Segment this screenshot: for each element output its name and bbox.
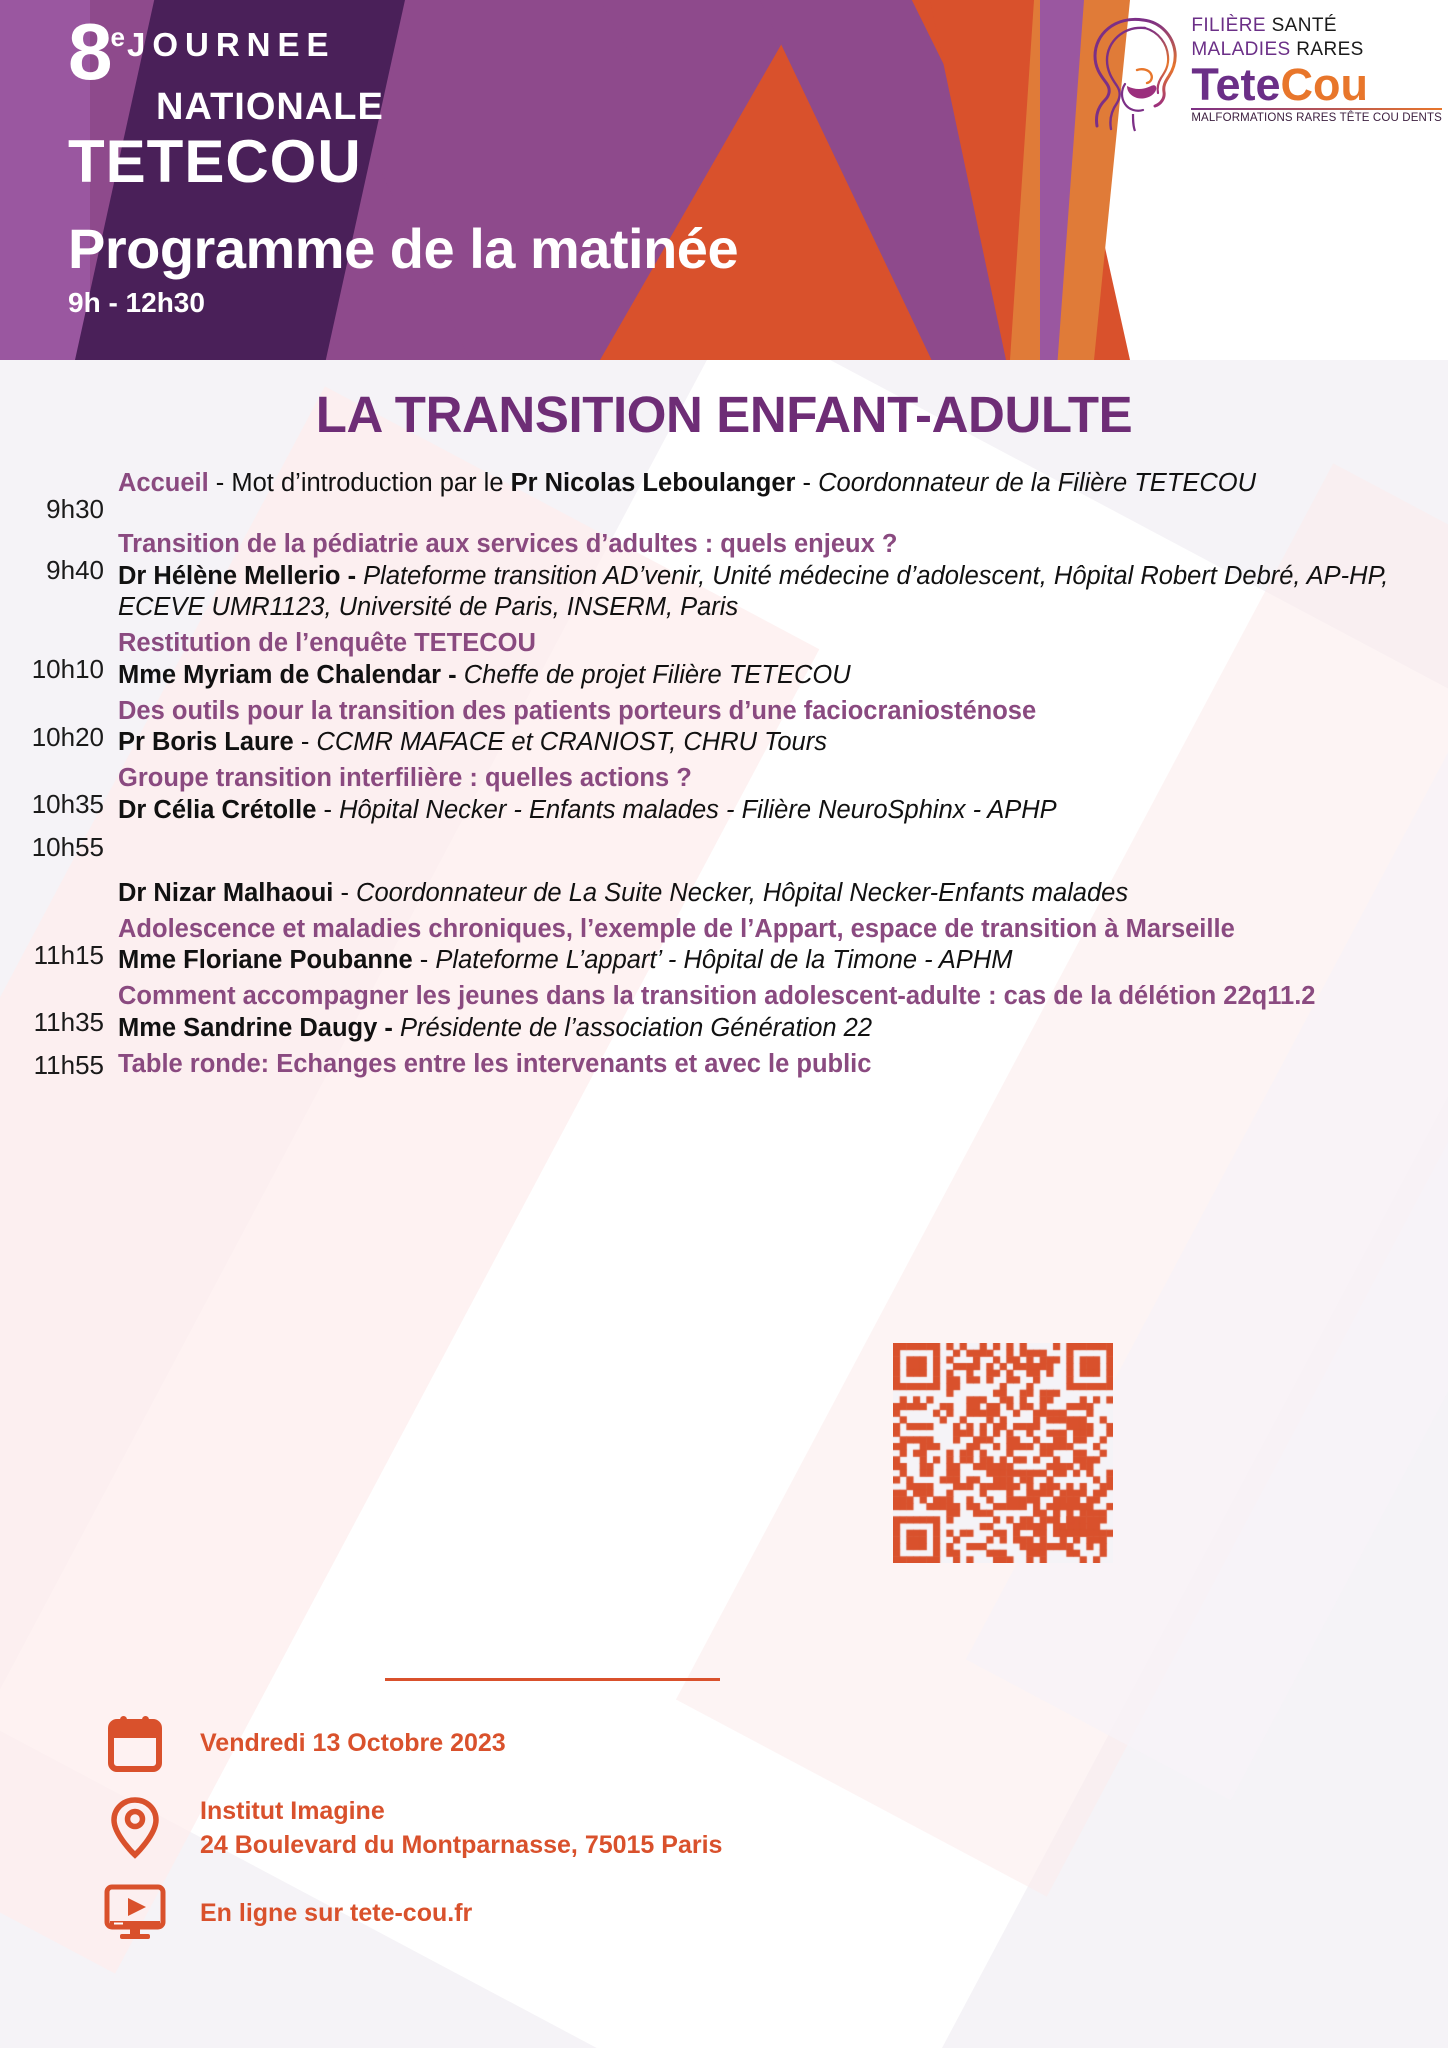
schedule-row: 10h10Restitution de l’enquête TETECOUMme… (0, 628, 1448, 691)
schedule-row: 10h20Des outils pour la transition des p… (0, 696, 1448, 759)
schedule-title: Transition de la pédiatrie aux services … (118, 529, 1418, 560)
schedule-title: Comment accompagner les jeunes dans la t… (118, 981, 1418, 1012)
schedule-row: 10h35Groupe transition interfilière : qu… (0, 763, 1448, 826)
schedule-time: 10h35 (0, 763, 118, 820)
brand-title: TETECOU (68, 127, 738, 196)
page-title: LA TRANSITION ENFANT-ADULTE (0, 385, 1448, 444)
edition-suffix: e (111, 22, 125, 53)
logo-tetecou: TeteCou (1191, 62, 1442, 107)
logo-wordmark: FILIÈRE SANTÉ MALADIES RARES TeteCou MAL… (1191, 14, 1442, 124)
schedule-time: 10h55 (0, 831, 118, 863)
schedule-row: 9h30Accueil - Mot d’introduction par le … (0, 468, 1448, 525)
schedule-title: Table ronde: Echanges entre les interven… (118, 1049, 1418, 1080)
schedule-list: 9h30Accueil - Mot d’introduction par le … (0, 468, 1448, 1085)
event-address: 24 Boulevard du Montparnasse, 75015 Pari… (200, 1828, 722, 1862)
event-details: Vendredi 13 Octobre 2023 Institut Imagin… (100, 1714, 722, 1964)
schedule-title (118, 831, 1418, 877)
logo-tete: Tete (1191, 59, 1280, 110)
monitor-play-icon (100, 1884, 170, 1942)
event-online: En ligne sur tete-cou.fr (200, 1896, 472, 1930)
journee-label: JOURNEE (127, 26, 336, 64)
schedule-row: 11h15Adolescence et maladies chroniques,… (0, 914, 1448, 977)
event-date: Vendredi 13 Octobre 2023 (200, 1726, 506, 1760)
schedule-entry: Transition de la pédiatrie aux services … (118, 529, 1448, 624)
schedule-row: 11h35Comment accompagner les jeunes dans… (0, 981, 1448, 1044)
schedule-title: Restitution de l’enquête TETECOU (118, 628, 1418, 659)
logo-cou: Cou (1281, 59, 1368, 110)
schedule-time: 11h55 (0, 1049, 118, 1081)
schedule-speaker: Dr Hélène Mellerio - Plateforme transiti… (118, 561, 1418, 625)
event-venue-block: Institut Imagine 24 Boulevard du Montpar… (200, 1794, 722, 1862)
program-hours: 9h - 12h30 (68, 287, 738, 319)
schedule-speaker: Mme Sandrine Daugy - Présidente de l’ass… (118, 1013, 1418, 1045)
schedule-entry: Dr Nizar Malhaoui - Coordonnateur de La … (118, 831, 1448, 910)
logo-tagline: MALFORMATIONS RARES TÊTE COU DENTS (1191, 112, 1442, 124)
schedule-time: 9h40 (0, 529, 118, 586)
schedule-speaker: Mme Myriam de Chalendar - Cheffe de proj… (118, 660, 1418, 692)
qr-code[interactable] (893, 1343, 1113, 1563)
head-silhouette-icon (1081, 14, 1185, 132)
header-title-block: 8 e JOURNEE NATIONALE TETECOU Programme … (68, 14, 738, 319)
schedule-entry: Comment accompagner les jeunes dans la t… (118, 981, 1448, 1044)
schedule-entry: Groupe transition interfilière : quelles… (118, 763, 1448, 826)
schedule-speaker: Mme Floriane Poubanne - Plateforme L’app… (118, 945, 1418, 977)
schedule-time: 10h20 (0, 696, 118, 753)
program-label: Programme de la matinée (68, 216, 738, 281)
schedule-row: 9h40Transition de la pédiatrie aux servi… (0, 529, 1448, 624)
schedule-title: Groupe transition interfilière : quelles… (118, 763, 1418, 794)
schedule-time: 9h30 (0, 468, 118, 525)
schedule-speaker: Dr Nizar Malhaoui - Coordonnateur de La … (118, 878, 1418, 910)
edition-number: 8 (68, 14, 111, 90)
logo-line-1: FILIÈRE SANTÉ (1191, 14, 1442, 38)
footer-divider (385, 1678, 720, 1681)
schedule-entry: Adolescence et maladies chroniques, l’ex… (118, 914, 1448, 977)
map-pin-icon (100, 1797, 170, 1859)
schedule-speaker: Dr Célia Crétolle - Hôpital Necker - Enf… (118, 795, 1418, 827)
schedule-speaker: Pr Boris Laure - CCMR MAFACE et CRANIOST… (118, 727, 1418, 759)
schedule-entry: Accueil - Mot d’introduction par le Pr N… (118, 468, 1448, 499)
schedule-lead: Accueil - Mot d’introduction par le Pr N… (118, 468, 1418, 499)
event-online-row: En ligne sur tete-cou.fr (100, 1884, 722, 1942)
logo-filiere: FILIÈRE (1191, 15, 1271, 36)
nationale-label: NATIONALE (156, 86, 738, 129)
logo-maladies: MALADIES (1191, 39, 1296, 60)
schedule-row: 10h55Dr Nizar Malhaoui - Coordonnateur d… (0, 831, 1448, 910)
schedule-row: 11h55Table ronde: Echanges entre les int… (0, 1049, 1448, 1081)
logo-sante: SANTÉ (1272, 15, 1337, 36)
event-venue: Institut Imagine (200, 1794, 722, 1828)
schedule-time: 11h35 (0, 981, 118, 1038)
schedule-entry: Des outils pour la transition des patien… (118, 696, 1448, 759)
calendar-icon (100, 1714, 170, 1772)
schedule-entry: Restitution de l’enquête TETECOUMme Myri… (118, 628, 1448, 691)
event-location-row: Institut Imagine 24 Boulevard du Montpar… (100, 1794, 722, 1862)
filiere-tetecou-logo: FILIÈRE SANTÉ MALADIES RARES TeteCou MAL… (1081, 14, 1442, 132)
schedule-title: Des outils pour la transition des patien… (118, 696, 1418, 727)
schedule-time: 10h10 (0, 628, 118, 685)
logo-rares: RARES (1296, 39, 1363, 60)
schedule-entry: Table ronde: Echanges entre les interven… (118, 1049, 1448, 1080)
schedule-title: Adolescence et maladies chroniques, l’ex… (118, 914, 1418, 945)
event-date-row: Vendredi 13 Octobre 2023 (100, 1714, 722, 1772)
schedule-time: 11h15 (0, 914, 118, 971)
